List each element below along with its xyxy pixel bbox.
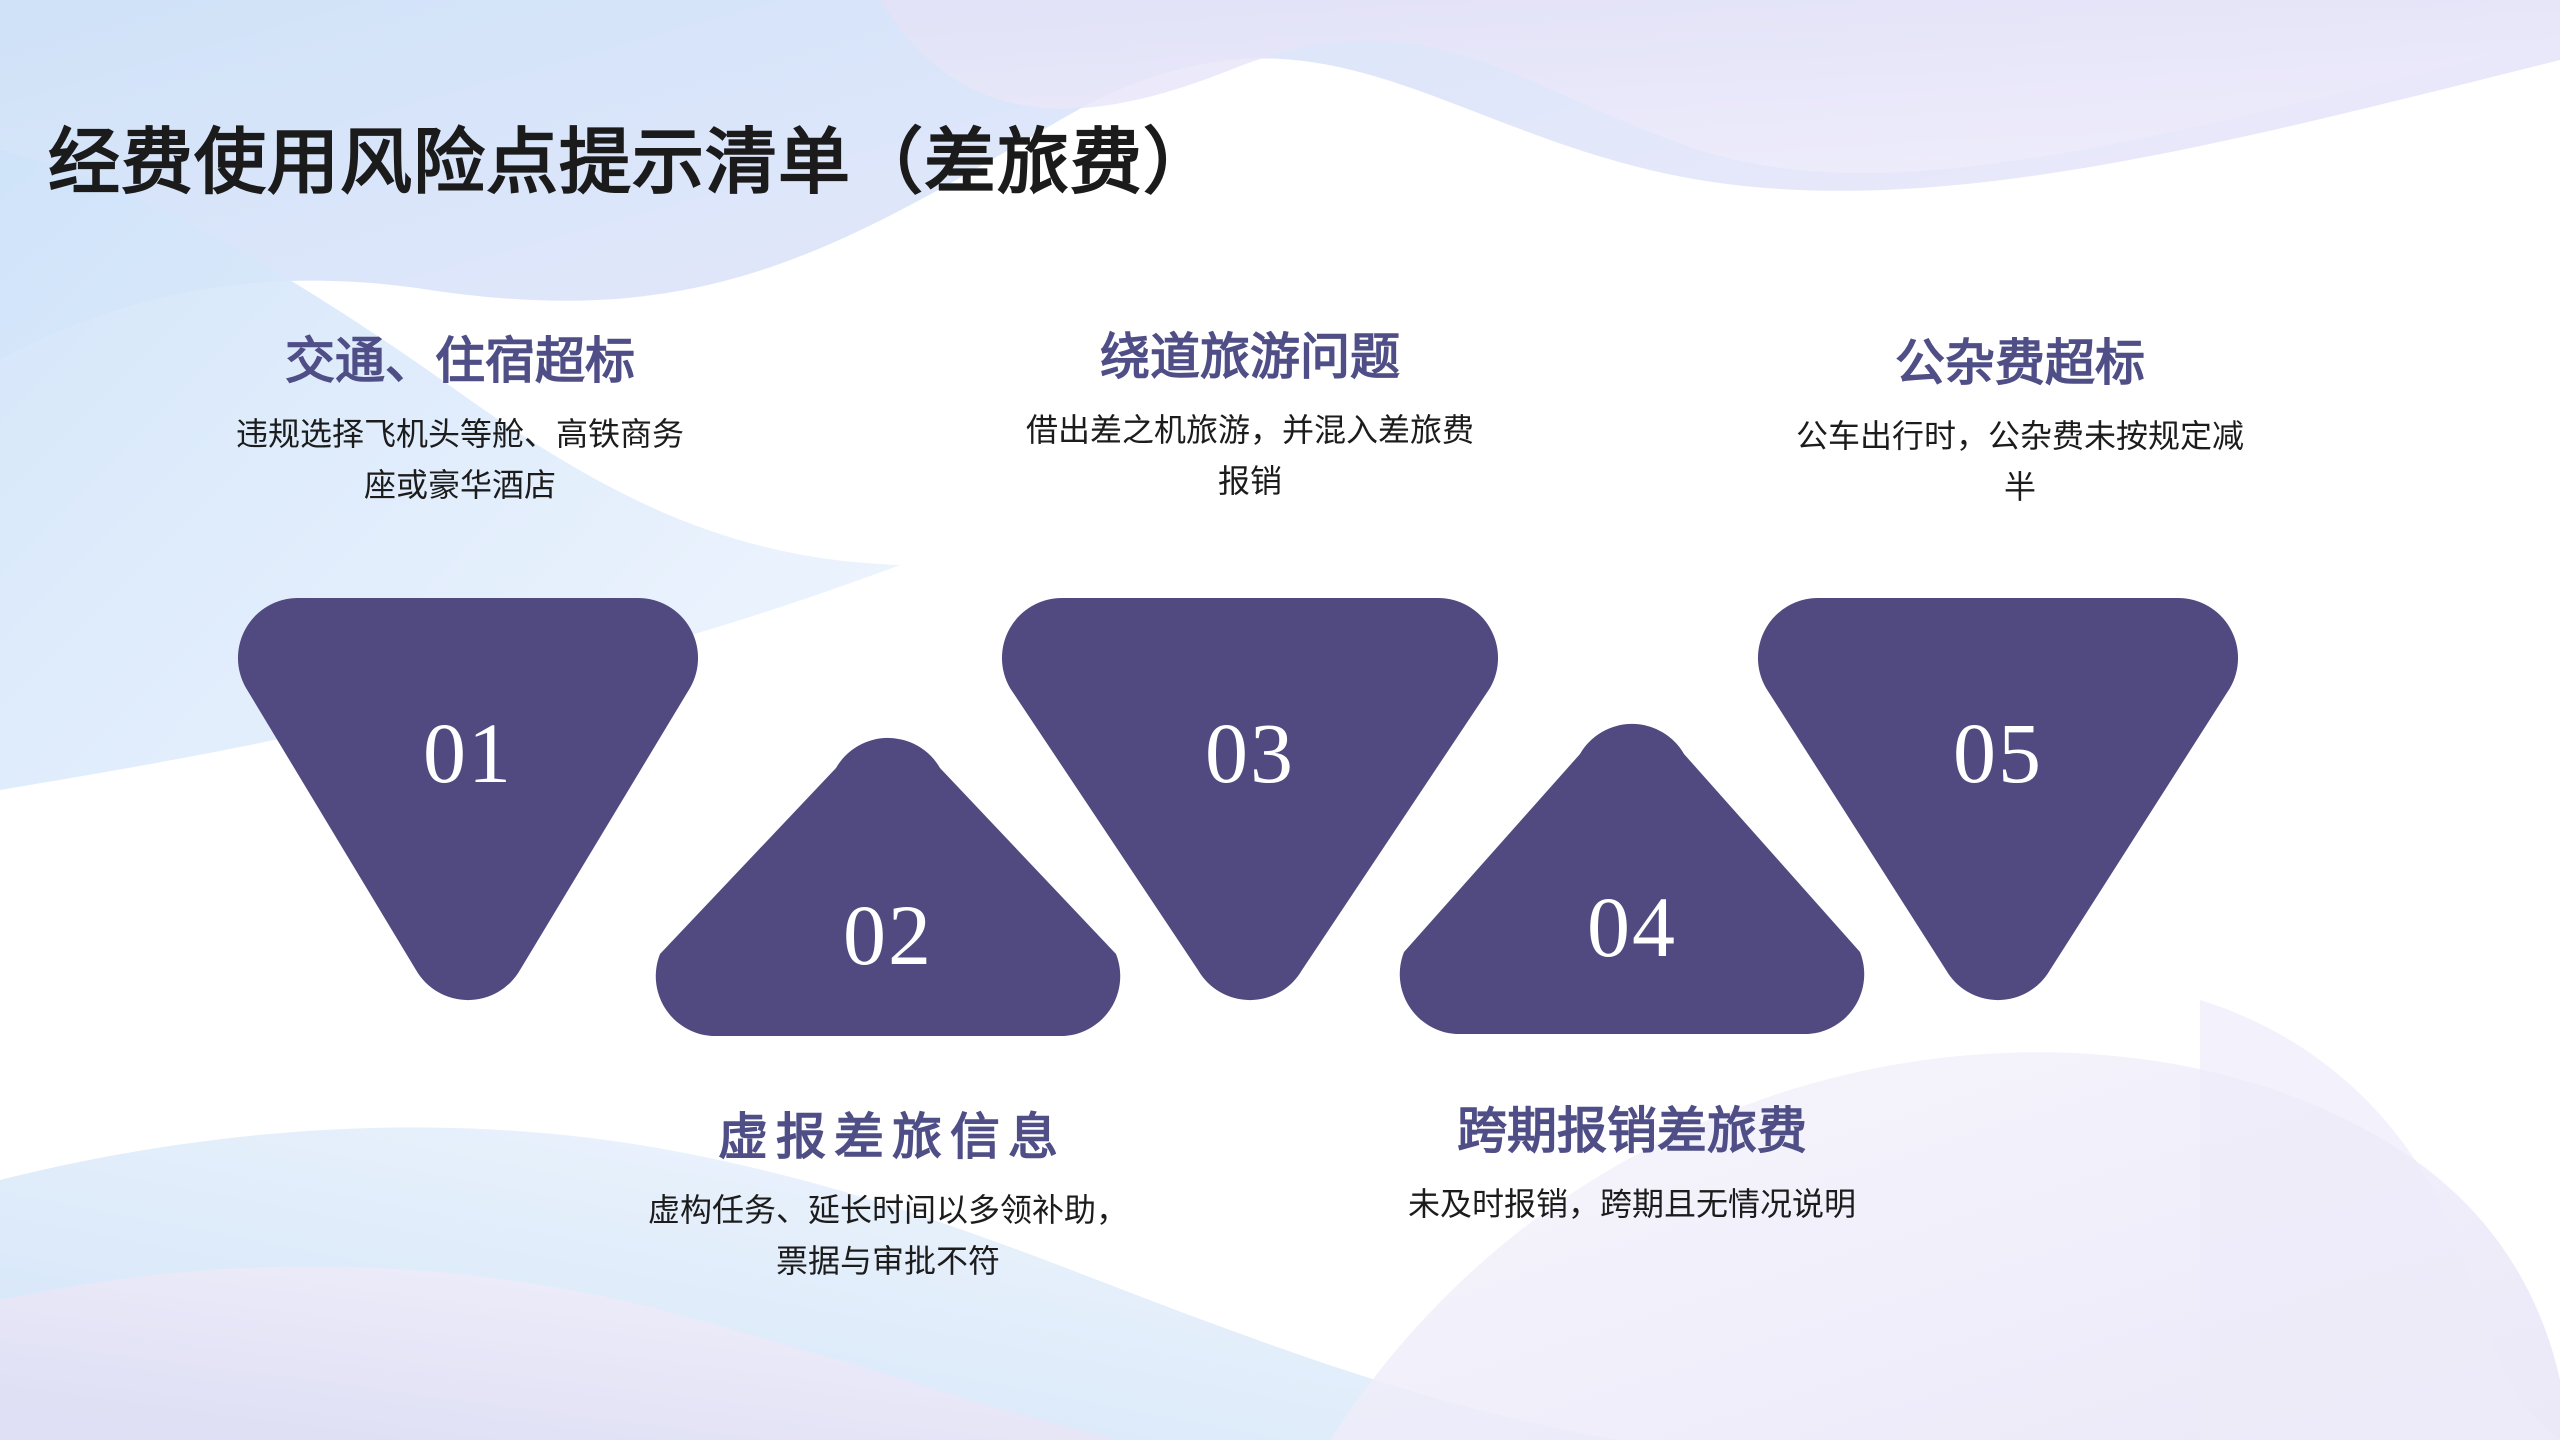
item-03-heading: 绕道旅游问题 <box>910 326 1590 389</box>
item-02-heading: 虚报差旅信息 <box>548 1106 1228 1169</box>
item-02-desc-line-2: 票据与审批不符 <box>548 1236 1228 1288</box>
item-03-text: 绕道旅游问题 借出差之机旅游，并混入差旅费 报销 <box>910 326 1590 508</box>
item-05-desc-line-2: 半 <box>1680 462 2360 514</box>
item-01-triangle[interactable]: 01 <box>238 598 698 998</box>
item-03-description: 借出差之机旅游，并混入差旅费 报销 <box>910 405 1590 509</box>
slide-canvas: 经费使用风险点提示清单（差旅费） 交通、住宿超标 违规选择飞机头等舱、高铁商务 … <box>0 0 2560 1440</box>
item-05-text: 公杂费超标 公车出行时，公杂费未按规定减 半 <box>1680 332 2360 514</box>
wave-bottom-lavender <box>0 1266 1120 1440</box>
item-03-desc-line-2: 报销 <box>910 456 1590 508</box>
item-04-heading: 跨期报销差旅费 <box>1292 1100 1972 1163</box>
item-01-desc-line-1: 违规选择飞机头等舱、高铁商务 <box>120 409 800 461</box>
item-02-description: 虚构任务、延长时间以多领补助， 票据与审批不符 <box>548 1185 1228 1289</box>
item-05-desc-line-1: 公车出行时，公杂费未按规定减 <box>1680 411 2360 463</box>
item-01-text: 交通、住宿超标 违规选择飞机头等舱、高铁商务 座或豪华酒店 <box>120 330 800 512</box>
item-01-heading: 交通、住宿超标 <box>120 330 800 393</box>
item-01-description: 违规选择飞机头等舱、高铁商务 座或豪华酒店 <box>120 409 800 513</box>
item-04-desc-line-1: 未及时报销，跨期且无情况说明 <box>1292 1179 1972 1231</box>
wave-right-haze <box>2200 1000 2560 1440</box>
item-03-desc-line-1: 借出差之机旅游，并混入差旅费 <box>910 405 1590 457</box>
item-05-triangle[interactable]: 05 <box>1758 598 2238 998</box>
item-04-description: 未及时报销，跨期且无情况说明 <box>1292 1179 1972 1231</box>
page-title: 经费使用风险点提示清单（差旅费） <box>48 118 1216 208</box>
item-02-desc-line-1: 虚构任务、延长时间以多领补助， <box>548 1185 1228 1237</box>
item-05-description: 公车出行时，公杂费未按规定减 半 <box>1680 411 2360 515</box>
item-01-number: 01 <box>238 710 698 796</box>
item-01-desc-line-2: 座或豪华酒店 <box>120 460 800 512</box>
item-04-text: 跨期报销差旅费 未及时报销，跨期且无情况说明 <box>1292 1100 1972 1230</box>
item-02-text: 虚报差旅信息 虚构任务、延长时间以多领补助， 票据与审批不符 <box>548 1106 1228 1288</box>
item-05-number: 05 <box>1758 710 2238 796</box>
item-05-heading: 公杂费超标 <box>1680 332 2360 395</box>
